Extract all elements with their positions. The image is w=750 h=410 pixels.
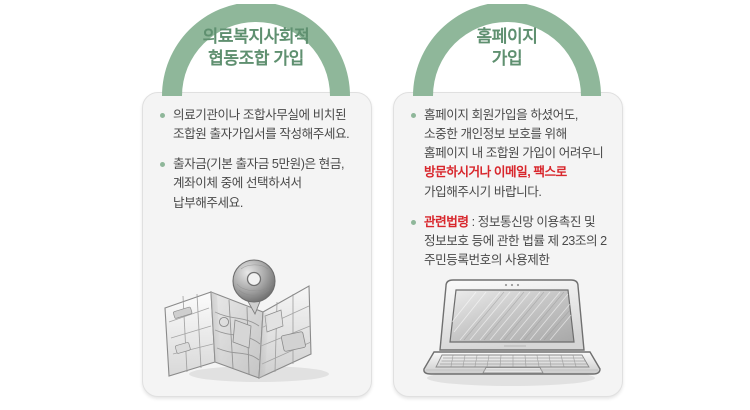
panel-coop-membership: 의료기관이나 조합사무실에 비치된 조합원 출자가입서를 작성해주세요. 출자금… bbox=[142, 92, 372, 397]
panel-header-arch-homepage: 홈페이지 가입 bbox=[402, 4, 612, 96]
arch-ring-icon bbox=[151, 4, 361, 96]
panel-title-coop: 의료복지사회적 협동조합 가입 bbox=[151, 26, 361, 71]
bullet-dot-icon bbox=[411, 220, 416, 225]
laptop-illustration bbox=[408, 274, 613, 392]
panel-header-arch-coop: 의료복지사회적 협동조합 가입 bbox=[151, 4, 361, 96]
bullet-list-homepage: 홈페이지 회원가입을 하셨어도, 소중한 개인정보 보호를 위해 홈페이지 내 … bbox=[408, 106, 612, 270]
bullet-dot-icon bbox=[411, 113, 416, 118]
bullet-text-tail: 가입해주시기 바랍니다. bbox=[424, 185, 541, 199]
bullet-text: 홈페이지 회원가입을 하셨어도, 소중한 개인정보 보호를 위해 홈페이지 내 … bbox=[424, 108, 603, 160]
list-item: 관련법령 : 정보통신망 이용촉진 및 정보보호 등에 관한 법률 제 23조의… bbox=[408, 213, 612, 270]
panel-homepage-signup: 홈페이지 회원가입을 하셨어도, 소중한 개인정보 보호를 위해 홈페이지 내 … bbox=[393, 92, 623, 397]
bullet-text: 출자금(기본 출자금 5만원)은 현금, 계좌이체 중에 선택하셔서 납부해주세… bbox=[173, 157, 344, 209]
bullet-list-coop: 의료기관이나 조합사무실에 비치된 조합원 출자가입서를 작성해주세요. 출자금… bbox=[157, 106, 361, 213]
list-item: 홈페이지 회원가입을 하셨어도, 소중한 개인정보 보호를 위해 홈페이지 내 … bbox=[408, 106, 612, 202]
list-item: 출자금(기본 출자금 5만원)은 현금, 계좌이체 중에 선택하셔서 납부해주세… bbox=[157, 155, 361, 212]
bullet-text-highlight: 방문하시거나 이메일, 팩스로 bbox=[424, 165, 567, 179]
panel-title-homepage: 홈페이지 가입 bbox=[402, 26, 612, 71]
bullet-text: 의료기관이나 조합사무실에 비치된 조합원 출자가입서를 작성해주세요. bbox=[173, 108, 349, 141]
bullet-dot-icon bbox=[160, 113, 165, 118]
list-item: 의료기관이나 조합사무실에 비치된 조합원 출자가입서를 작성해주세요. bbox=[157, 106, 361, 144]
arch-ring-icon bbox=[402, 4, 612, 96]
bullet-dot-icon bbox=[160, 162, 165, 167]
infographic-stage: 의료기관이나 조합사무실에 비치된 조합원 출자가입서를 작성해주세요. 출자금… bbox=[0, 0, 750, 410]
folded-map-illustration bbox=[159, 250, 359, 390]
related-law-label: 관련법령 bbox=[424, 215, 469, 229]
